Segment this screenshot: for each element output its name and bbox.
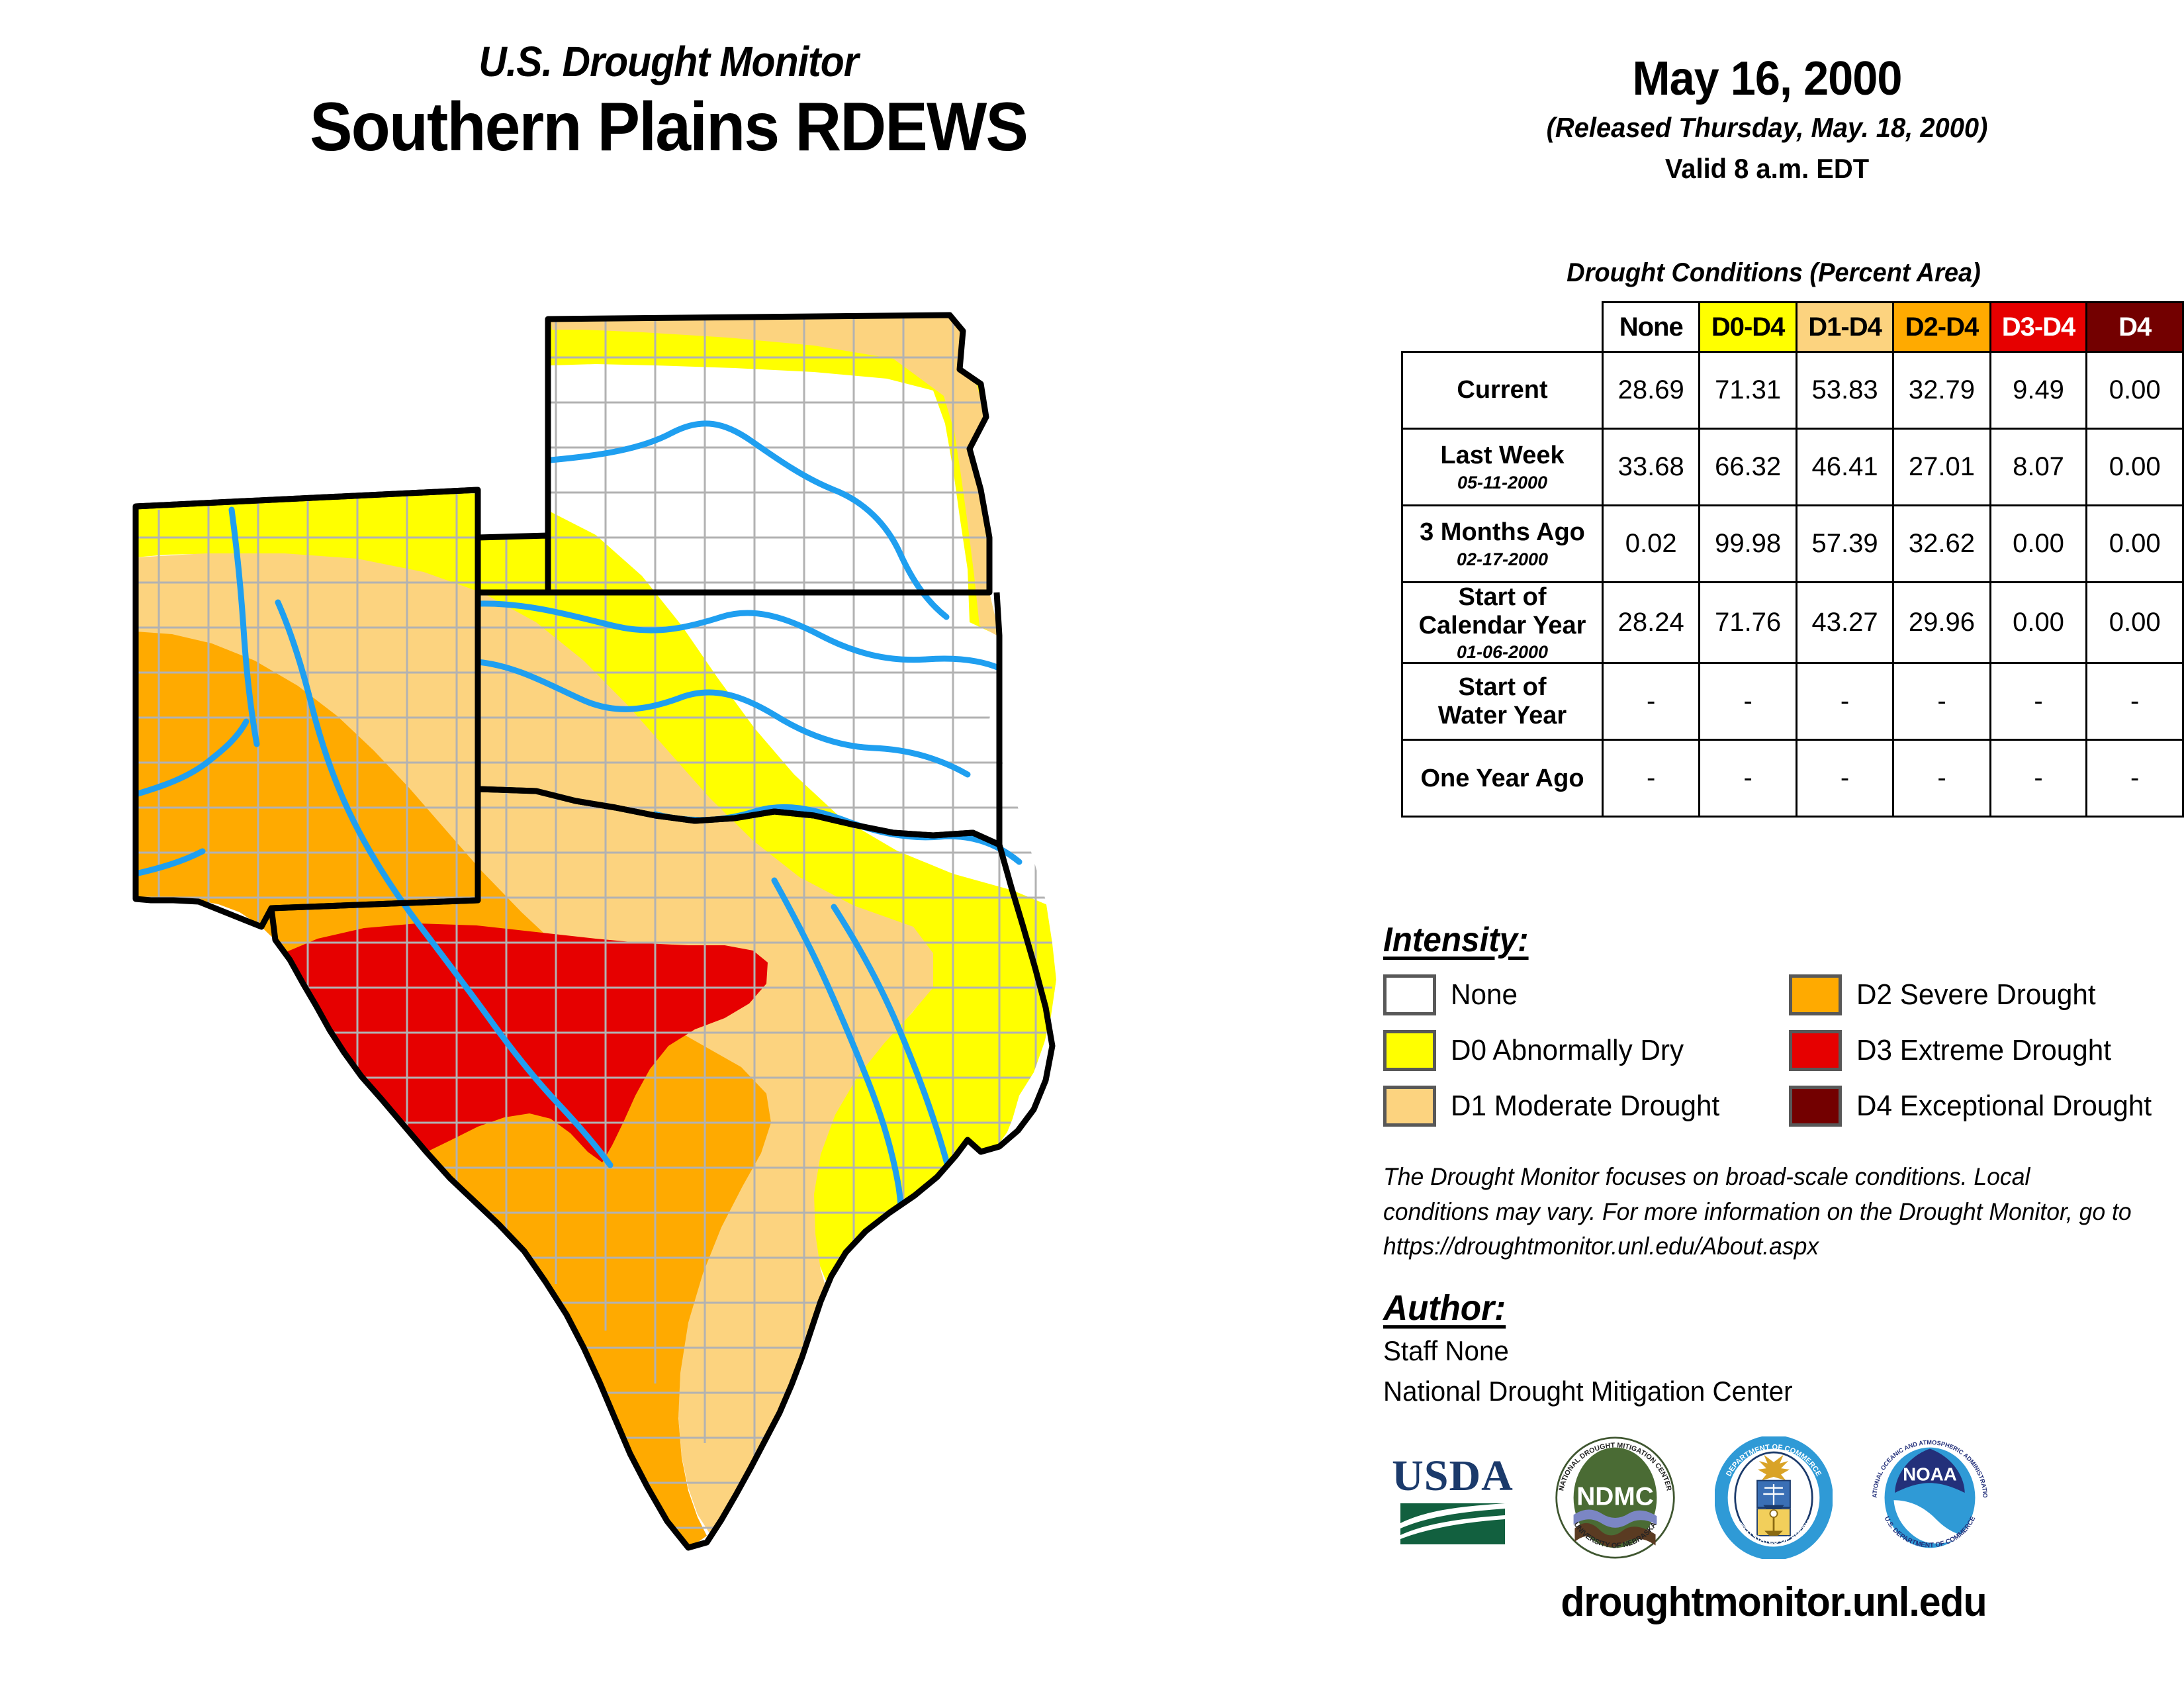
report-header: May 16, 2000 (Released Thursday, May. 18… <box>1377 53 2158 185</box>
table-cell: 28.69 <box>1603 352 1700 429</box>
legend-column-left: NoneD0 Abnormally DryD1 Moderate Drought <box>1383 974 1789 1127</box>
table-cell: 0.00 <box>2087 429 2183 506</box>
table-cell: - <box>1796 740 1893 817</box>
legend-label: D2 Severe Drought <box>1856 978 2096 1011</box>
table-cell: 33.68 <box>1603 429 1700 506</box>
title-main: Southern Plains RDEWS <box>47 89 1291 165</box>
footer-url: droughtmonitor.unl.edu <box>1396 1579 2151 1626</box>
table-col-header-d2-d4: D2-D4 <box>1893 303 1990 352</box>
legend-swatch <box>1789 1086 1842 1127</box>
ndmc-logo: NDMC NATIONAL DROUGHT MITIGATION CENTER … <box>1554 1436 1676 1562</box>
row-label-date: 01-06-2000 <box>1403 642 1602 662</box>
svg-text:USDA: USDA <box>1392 1452 1514 1500</box>
report-date: May 16, 2000 <box>1396 53 2138 105</box>
table-cell: - <box>1603 740 1700 817</box>
table-cell: 66.32 <box>1700 429 1796 506</box>
table-body: Current28.6971.3153.8332.799.490.00Last … <box>1402 352 2183 817</box>
legend-label: D1 Moderate Drought <box>1451 1090 1719 1123</box>
row-label: One Year Ago <box>1402 740 1603 817</box>
legend-swatch <box>1383 1030 1436 1071</box>
logo-strip: USDA NDMC NATIONAL DROUGHT MITIGATION CE… <box>1390 1436 2151 1562</box>
table-row: One Year Ago------ <box>1402 740 2183 817</box>
table-col-header-d1-d4: D1-D4 <box>1796 303 1893 352</box>
author-name: Staff None <box>1383 1333 2139 1369</box>
table-cell: - <box>1990 740 2087 817</box>
table-cell: 28.24 <box>1603 583 1700 663</box>
table-cell: 0.02 <box>1603 506 1700 583</box>
table-row: Current28.6971.3153.8332.799.490.00 <box>1402 352 2183 429</box>
table-cell: 43.27 <box>1796 583 1893 663</box>
noaa-logo: NOAA NATIONAL OCEANIC AND ATMOSPHERIC AD… <box>1871 1436 1989 1562</box>
legend-item: D0 Abnormally Dry <box>1383 1030 1789 1071</box>
table-row: Start ofCalendar Year01-06-200028.2471.7… <box>1402 583 2183 663</box>
drought-conditions-table: NoneD0-D4D1-D4D2-D4D3-D4D4 Current28.697… <box>1401 301 2184 818</box>
doc-logo: DEPARTMENT OF COMMERCE UNITED STATES OF … <box>1715 1436 1833 1562</box>
row-label: Current <box>1402 352 1603 429</box>
table-cell: - <box>1893 740 1990 817</box>
table-cell: 0.00 <box>2087 583 2183 663</box>
table-cell: 32.79 <box>1893 352 1990 429</box>
legend-label: D3 Extreme Drought <box>1856 1034 2111 1067</box>
table-cell: 99.98 <box>1700 506 1796 583</box>
row-label: Last Week05-11-2000 <box>1402 429 1603 506</box>
table-corner-blank <box>1402 303 1603 352</box>
page-title: U.S. Drought Monitor Southern Plains RDE… <box>0 40 1337 165</box>
author-title: Author: <box>1383 1288 1506 1329</box>
table-cell: 29.96 <box>1893 583 1990 663</box>
table-caption: Drought Conditions (Percent Area) <box>1396 258 2151 288</box>
author-org: National Drought Mitigation Center <box>1383 1373 2139 1409</box>
row-label: Start ofCalendar Year01-06-2000 <box>1402 583 1603 663</box>
author-block: Author: Staff None National Drought Miti… <box>1383 1288 2171 1410</box>
legend-item: D2 Severe Drought <box>1789 974 2164 1015</box>
svg-text:NOAA: NOAA <box>1903 1464 1957 1485</box>
legend-swatch <box>1383 1086 1436 1127</box>
table-cell: 71.31 <box>1700 352 1796 429</box>
table-row: 3 Months Ago02-17-20000.0299.9857.3932.6… <box>1402 506 2183 583</box>
legend-grid: NoneD0 Abnormally DryD1 Moderate Drought… <box>1383 974 2164 1127</box>
table-cell: - <box>1603 663 1700 740</box>
table-cell: - <box>1700 663 1796 740</box>
report-valid: Valid 8 a.m. EDT <box>1396 153 2138 185</box>
drought-map <box>73 291 1357 1582</box>
table-col-header-d3-d4: D3-D4 <box>1990 303 2087 352</box>
intensity-legend: Intensity: NoneD0 Abnormally DryD1 Moder… <box>1383 920 2164 1127</box>
table-cell: - <box>1893 663 1990 740</box>
report-released: (Released Thursday, May. 18, 2000) <box>1396 112 2138 144</box>
table-cell: - <box>1990 663 2087 740</box>
table-cell: 0.00 <box>1990 506 2087 583</box>
row-label: Start ofWater Year <box>1402 663 1603 740</box>
table-cell: - <box>2087 663 2183 740</box>
table-cell: 0.00 <box>1990 583 2087 663</box>
table-col-header-d0-d4: D0-D4 <box>1700 303 1796 352</box>
table-cell: 0.00 <box>2087 506 2183 583</box>
legend-label: D0 Abnormally Dry <box>1451 1034 1684 1067</box>
legend-column-right: D2 Severe DroughtD3 Extreme DroughtD4 Ex… <box>1789 974 2164 1127</box>
table-header-row: NoneD0-D4D1-D4D2-D4D3-D4D4 <box>1402 303 2183 352</box>
table-row: Last Week05-11-200033.6866.3246.4127.018… <box>1402 429 2183 506</box>
table-cell: - <box>2087 740 2183 817</box>
row-label-date: 02-17-2000 <box>1403 549 1602 569</box>
table-cell: 0.00 <box>2087 352 2183 429</box>
intensity-title: Intensity: <box>1383 920 1529 960</box>
table-cell: 46.41 <box>1796 429 1893 506</box>
disclaimer-text: The Drought Monitor focuses on broad-sca… <box>1383 1160 2139 1264</box>
title-subtitle: U.S. Drought Monitor <box>54 40 1283 84</box>
legend-item: None <box>1383 974 1789 1015</box>
table-col-header-d4: D4 <box>2087 303 2183 352</box>
legend-swatch <box>1789 1030 1842 1071</box>
legend-label: None <box>1451 978 1518 1011</box>
table-cell: - <box>1700 740 1796 817</box>
usda-logo: USDA <box>1390 1445 1516 1554</box>
table-col-header-none: None <box>1603 303 1700 352</box>
table-cell: 27.01 <box>1893 429 1990 506</box>
table-cell: 53.83 <box>1796 352 1893 429</box>
table-row: Start ofWater Year------ <box>1402 663 2183 740</box>
table-cell: 32.62 <box>1893 506 1990 583</box>
legend-item: D4 Exceptional Drought <box>1789 1086 2164 1127</box>
table-cell: 9.49 <box>1990 352 2087 429</box>
table-cell: 8.07 <box>1990 429 2087 506</box>
row-label-date: 05-11-2000 <box>1403 473 1602 492</box>
legend-swatch <box>1789 974 1842 1015</box>
table-cell: 71.76 <box>1700 583 1796 663</box>
table-cell: - <box>1796 663 1893 740</box>
legend-item: D1 Moderate Drought <box>1383 1086 1789 1127</box>
table-cell: 57.39 <box>1796 506 1893 583</box>
legend-swatch <box>1383 974 1436 1015</box>
row-label: 3 Months Ago02-17-2000 <box>1402 506 1603 583</box>
legend-item: D3 Extreme Drought <box>1789 1030 2164 1071</box>
svg-text:NDMC: NDMC <box>1576 1483 1654 1511</box>
legend-label: D4 Exceptional Drought <box>1856 1090 2152 1123</box>
